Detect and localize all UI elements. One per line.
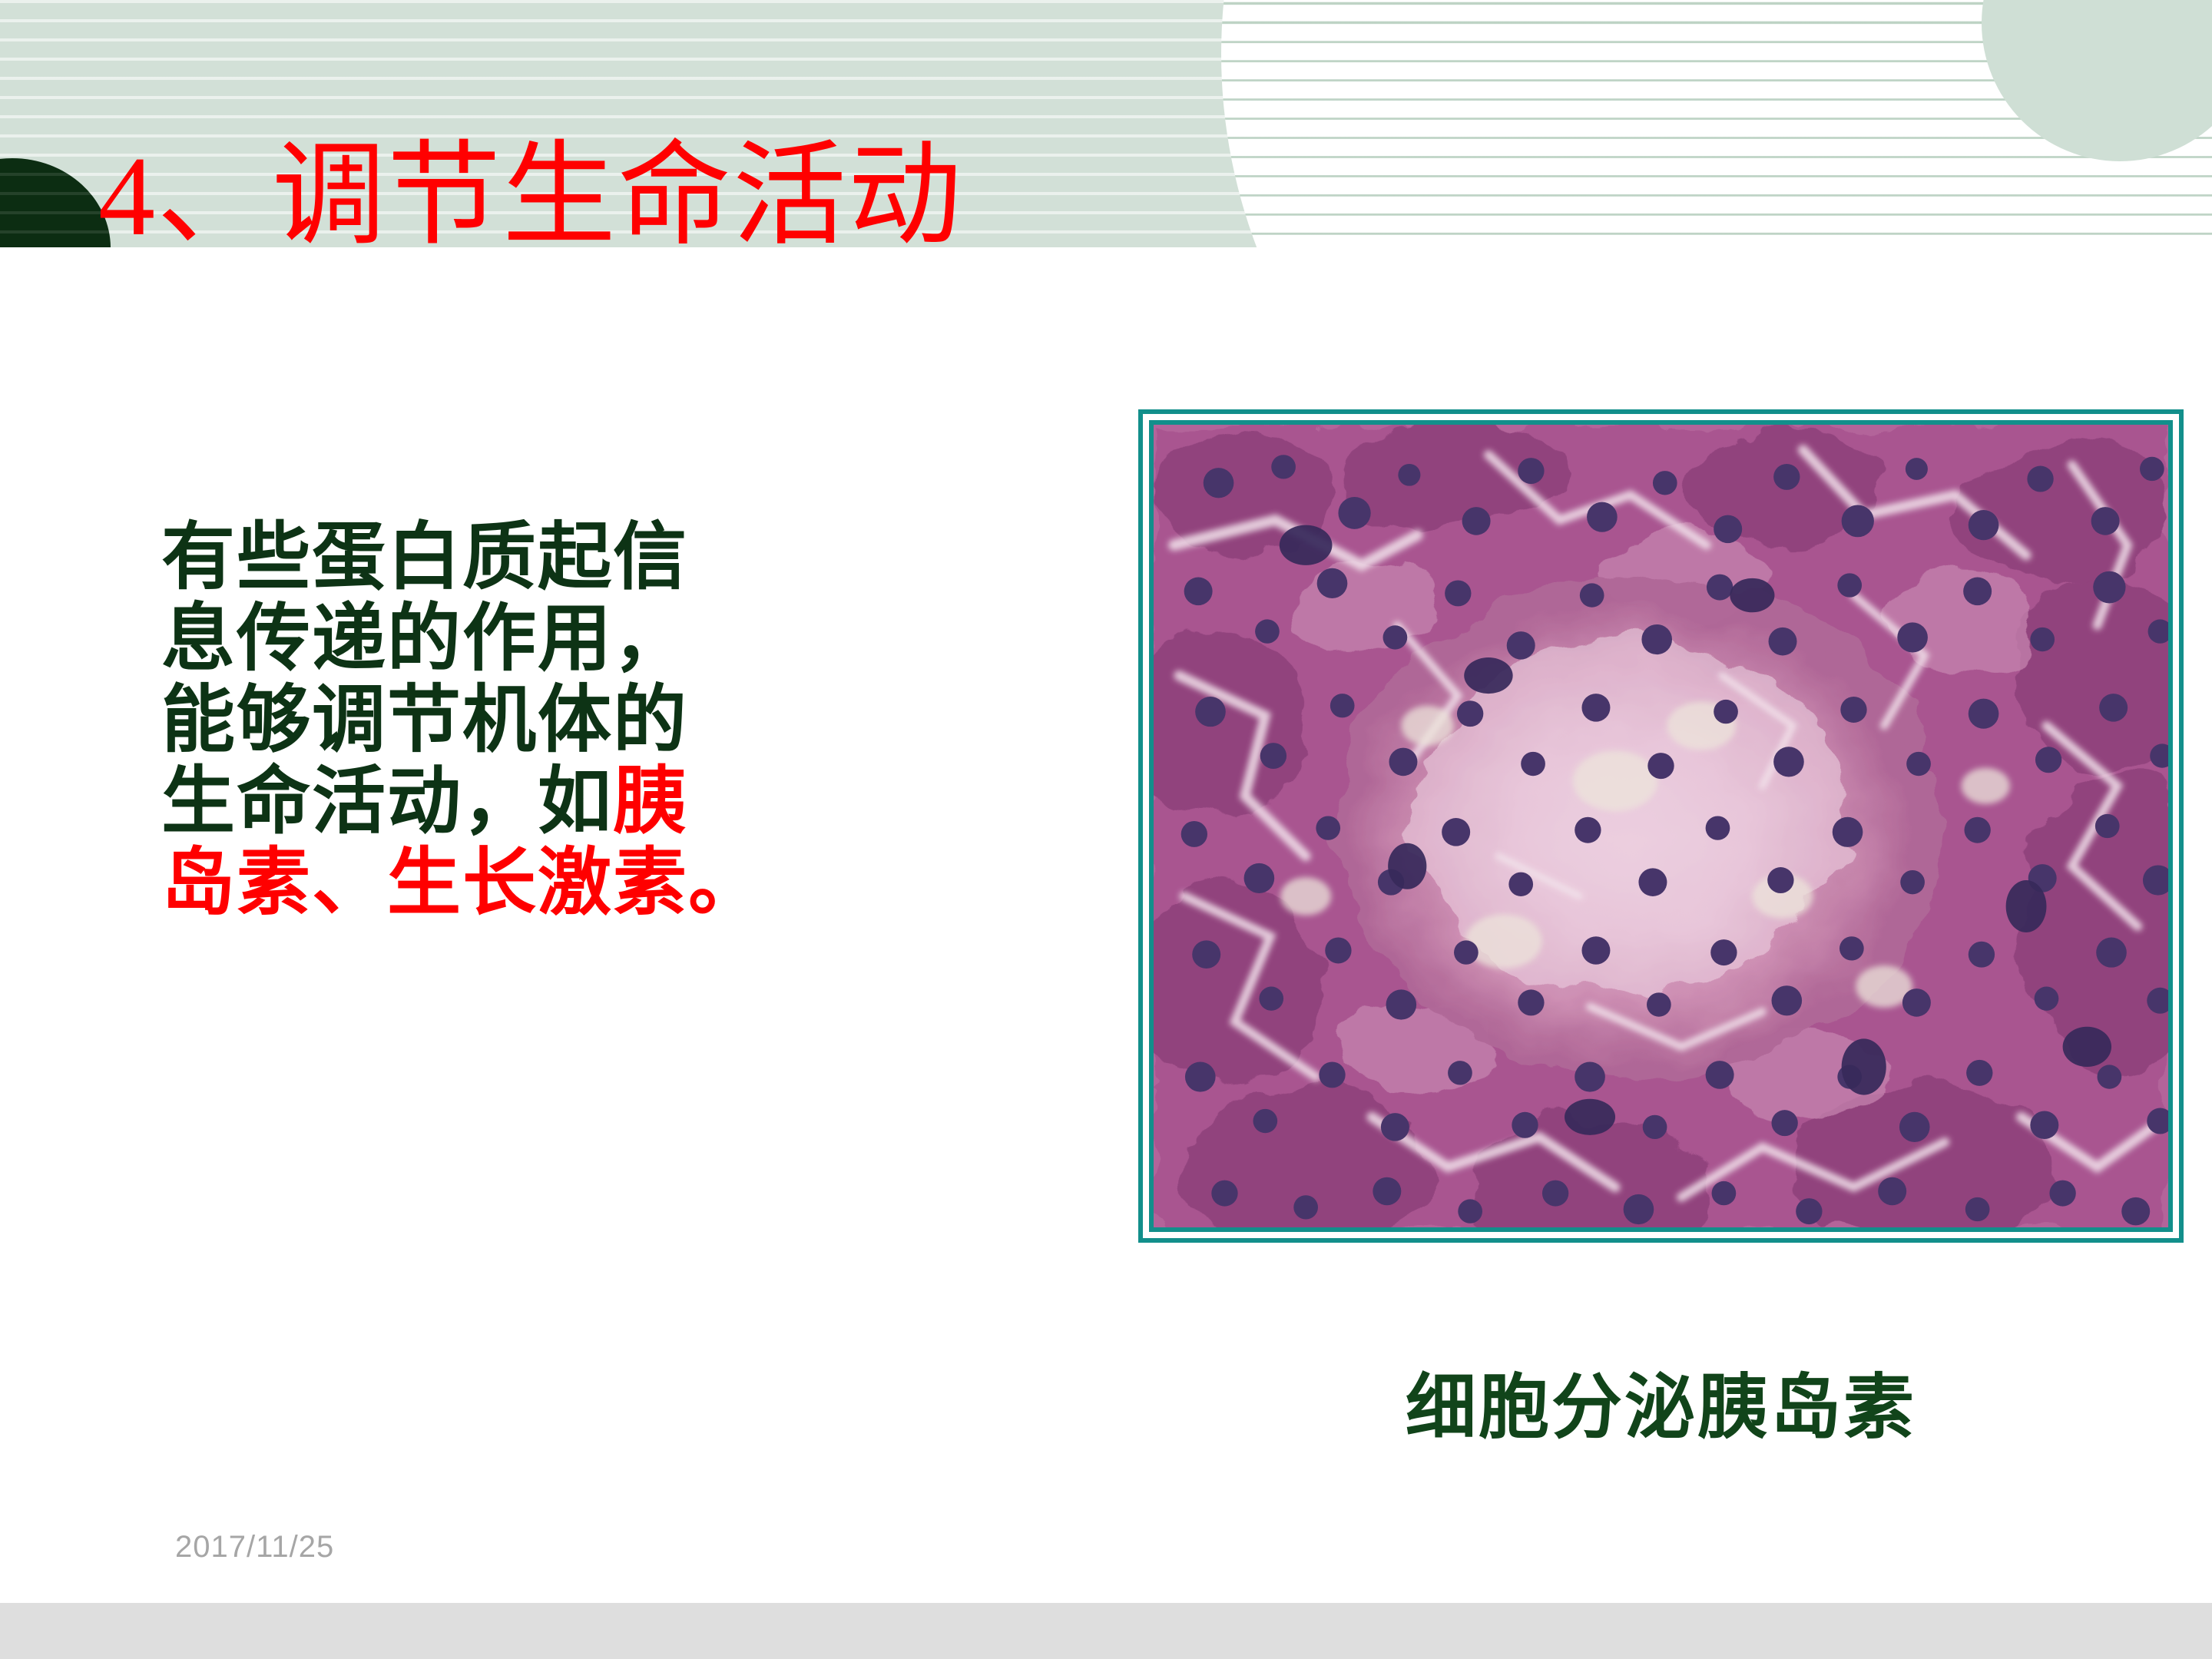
- title-dome-decor: [0, 158, 111, 247]
- page-title: 4、调节生命活动: [98, 129, 963, 264]
- body-text-line-4-plain: 生命活动，如: [161, 758, 613, 844]
- body-text-highlight-first: 胰: [613, 758, 688, 844]
- body-text-line-2: 息传递的作用，: [161, 598, 945, 679]
- body-text-line-4: 生命活动，如胰: [161, 760, 945, 842]
- body-text-line-1: 有些蛋白质起信: [161, 516, 945, 598]
- body-text-line-5-highlight: 岛素、生长激素。: [161, 842, 945, 923]
- bottom-status-bar: [0, 1603, 2212, 1659]
- figure-container: [1138, 409, 2184, 1243]
- body-text-block: 有些蛋白质起信 息传递的作用， 能够调节机体的 生命活动，如胰 岛素、生长激素。: [161, 516, 945, 923]
- footer-date: 2017/11/25: [175, 1530, 334, 1565]
- histology-micrograph-image: [1154, 425, 2168, 1227]
- figure-caption: 细胞分泌胰岛素: [1138, 1350, 2184, 1452]
- figure-frame-inner: [1149, 420, 2173, 1232]
- body-text-line-3: 能够调节机体的: [161, 679, 945, 760]
- slide-canvas: 4、调节生命活动 有些蛋白质起信 息传递的作用， 能够调节机体的 生命活动，如胰…: [0, 0, 2212, 1659]
- title-dome-stripe-pattern: [0, 158, 111, 247]
